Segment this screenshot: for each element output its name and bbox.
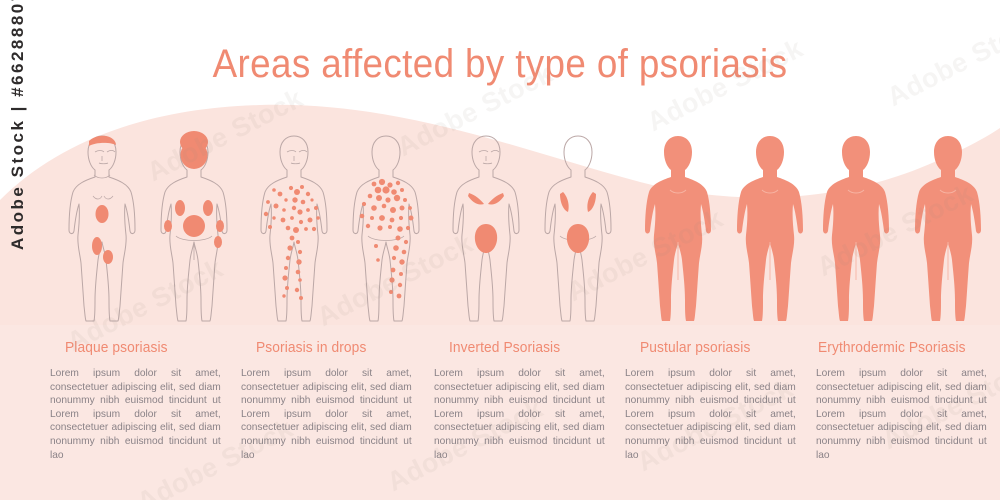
body-erythrodermic: Lorem ipsum dolor sit amet, consectetuer…: [816, 367, 987, 462]
stock-watermark-label: Adobe Stock | #662888075: [8, 0, 28, 250]
lesion-group: [264, 179, 414, 300]
lesion-group: [645, 136, 803, 321]
heading-erythrodermic: Erythrodermic Psoriasis: [818, 340, 966, 356]
figure-group-guttate: [250, 130, 440, 325]
sections-container: Plaque psoriasis Psoriasis in drops Inve…: [0, 0, 1000, 500]
body-guttate: Lorem ipsum dolor sit amet, consectetuer…: [241, 367, 412, 462]
heading-inverted: Inverted Psoriasis: [449, 340, 560, 356]
figure-group-plaque: [58, 130, 248, 325]
lesion-group: [468, 192, 596, 253]
section-plaque[interactable]: [58, 130, 248, 325]
heading-pustular: Pustular psoriasis: [640, 340, 750, 356]
section-inverted[interactable]: [442, 130, 632, 325]
figure-group-inverted: [442, 130, 632, 325]
body-pustular: Lorem ipsum dolor sit amet, consectetuer…: [625, 367, 796, 462]
body-inverted: Lorem ipsum dolor sit amet, consectetuer…: [434, 367, 605, 462]
section-erythrodermic[interactable]: [812, 130, 1000, 325]
body-plaque: Lorem ipsum dolor sit amet, consectetuer…: [50, 367, 221, 462]
figure-group-pustular: [634, 130, 824, 325]
heading-guttate: Psoriasis in drops: [256, 340, 366, 356]
figure-group-erythrodermic: [812, 130, 1000, 325]
infographic-canvas: Areas affected by type of psoriasis: [0, 0, 1000, 500]
lesion-group: [823, 136, 981, 321]
section-guttate[interactable]: [250, 130, 440, 325]
heading-plaque: Plaque psoriasis: [65, 340, 168, 356]
section-pustular[interactable]: [634, 130, 824, 325]
